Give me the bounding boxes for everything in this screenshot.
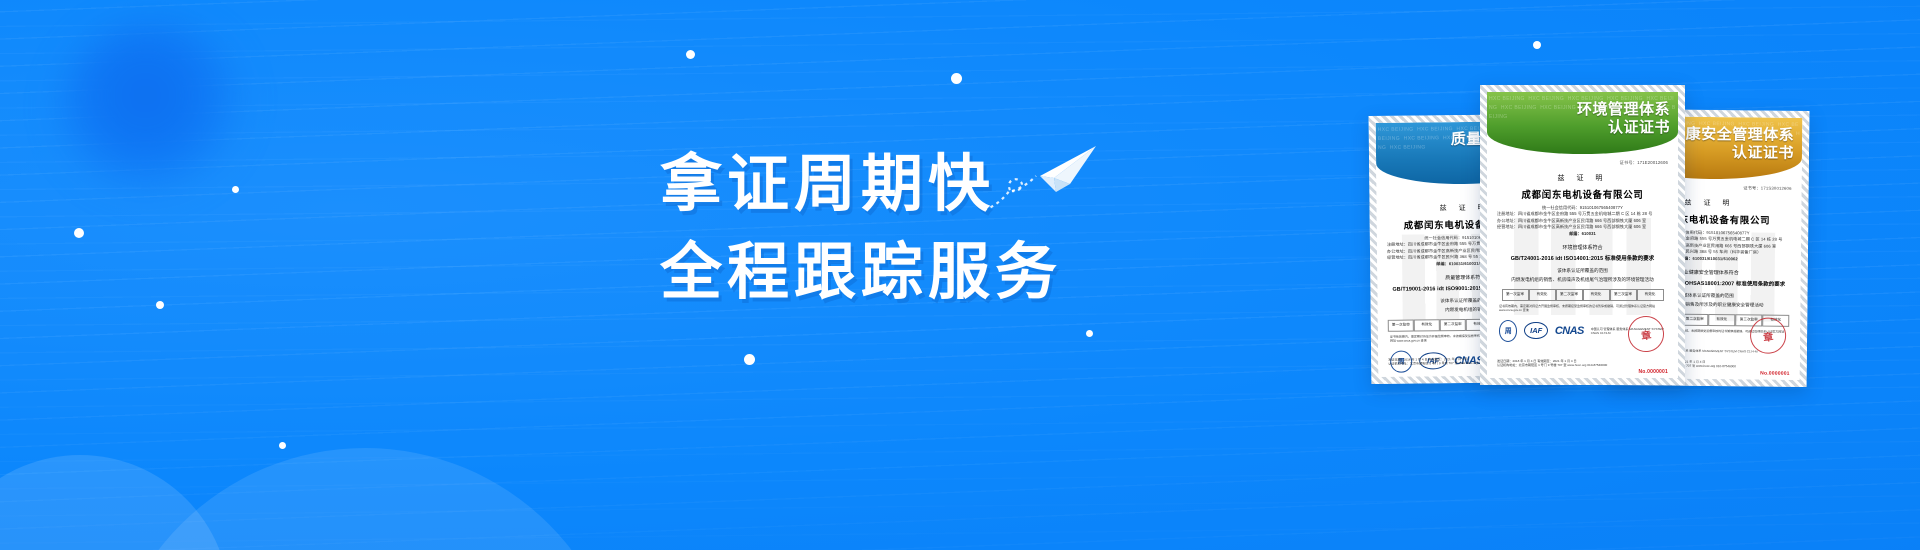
certificate-number: 证书号：171E20012606 — [1497, 160, 1668, 166]
decorative-dot — [74, 228, 84, 238]
decorative-dot — [156, 301, 164, 309]
company-name: 成都闰东电机设备有限公司 — [1497, 187, 1668, 201]
decorative-dot — [279, 442, 286, 449]
audit-cell: 第二次监审 — [1440, 319, 1466, 331]
certificate-title-line-1: 环境管理体系 — [1577, 100, 1670, 118]
certificate-header-banner: HXC BEIJING HXC BEIJING HXC BEIJING HXC … — [1487, 92, 1678, 154]
postal-code: 邮编：610031/610031/610062 — [1680, 255, 1738, 261]
system-conformity-label: 环境管理体系符合 — [1497, 244, 1668, 251]
promotional-banner: 拿证周期快 全程跟踪服务 — [0, 0, 1920, 550]
cnas-logo-icon: CNAS — [1555, 325, 1584, 337]
certificate-fineprint: 证书有效期内，需定期对持证方开展监督审核，未按期接受监督审核的证书暂停或撤销，可… — [1497, 304, 1668, 313]
postal-code: 邮编：610031 — [1569, 231, 1596, 236]
certificate-paper: HXC BEIJING HXC BEIJING HXC BEIJING HXC … — [1487, 92, 1678, 378]
audit-cell: 有效化 — [1529, 289, 1556, 301]
certificate-serial: No.0000001 — [1760, 371, 1790, 377]
audit-cell: 第三次监审 — [1610, 289, 1637, 301]
headline-line-2: 全程跟踪服务 — [660, 228, 1062, 316]
audit-cell: 有效化 — [1414, 319, 1440, 331]
decorative-dot — [686, 50, 695, 59]
decorative-dot — [951, 73, 962, 84]
certificate-meta: 统一社会信用代码：91510106756540877Y 注册地址：四川省成都市金… — [1497, 205, 1668, 237]
paper-plane-icon — [978, 136, 1098, 214]
audit-cell: 第一次监审 — [1388, 320, 1414, 332]
audit-cell: 有效化 — [1583, 289, 1610, 301]
audit-cell: 有效化 — [1708, 314, 1735, 326]
headline-row-1: 拿证周期快 — [660, 140, 1280, 228]
decorative-dot — [1533, 41, 1541, 49]
headline-line-1: 拿证周期快 — [660, 140, 995, 228]
certificate-serial: No.0000001 — [1638, 369, 1668, 375]
china-certification-icon: 周 — [1499, 320, 1517, 342]
issuer-footer: 认证机构地址：北京市朝阳区 1 号门 9 号楼 707 室 www.hxcc.o… — [1497, 363, 1668, 368]
address-1: 注册地址：四川省成都市金牛区金府路 555 号万贯五金机电城二期 C 区 14 … — [1497, 211, 1668, 217]
audit-cell: 第二次监审 — [1556, 289, 1583, 301]
headline-block: 拿证周期快 全程跟踪服务 — [660, 140, 1280, 316]
certificate-group: HXC BEIJING HXC BEIJING HXC BEIJING HXC … — [1370, 85, 1900, 465]
audit-table: 第一次监审 有效化 第二次监审 有效化 第三次监审 有效化 — [1497, 289, 1668, 301]
audit-cell: 第二次监审 — [1681, 314, 1708, 326]
certificate-title: 环境管理体系 认证证书 — [1577, 100, 1670, 137]
attestation-label: 兹 证 明 — [1497, 173, 1668, 183]
scope-label: 该体系认证所覆盖的范围 — [1497, 268, 1668, 274]
decorative-dot — [744, 354, 755, 365]
certificate-body: 证书号：171E20012606 兹 证 明 成都闰东电机设备有限公司 统一社会… — [1487, 154, 1678, 342]
iaf-logo-icon: IAF — [1524, 322, 1547, 339]
certificate-title-line-2: 认证证书 — [1577, 118, 1670, 136]
glow-blob-decoration — [58, 22, 248, 197]
standard-reference: GB/T24001-2016 idt ISO14001:2015 标准使用条款的… — [1497, 254, 1668, 262]
decorative-dot — [232, 186, 239, 193]
certificate-footer: 发证日期：2018 年 1 月 4 日 有效期至：2021 年 1 月 4 日 … — [1497, 359, 1668, 368]
certificate-environmental-management[interactable]: HXC BEIJING HXC BEIJING HXC BEIJING HXC … — [1480, 85, 1685, 385]
headline-row-2: 全程跟踪服务 — [660, 228, 1280, 316]
audit-cell: 有效化 — [1637, 289, 1664, 301]
audit-cell: 第一次监审 — [1502, 289, 1529, 301]
scope-text: 内燃发电机组的销售、机房噪声及机组尾气治理所涉及的环境管理活动 — [1497, 276, 1668, 283]
decorative-dot — [1086, 330, 1093, 337]
